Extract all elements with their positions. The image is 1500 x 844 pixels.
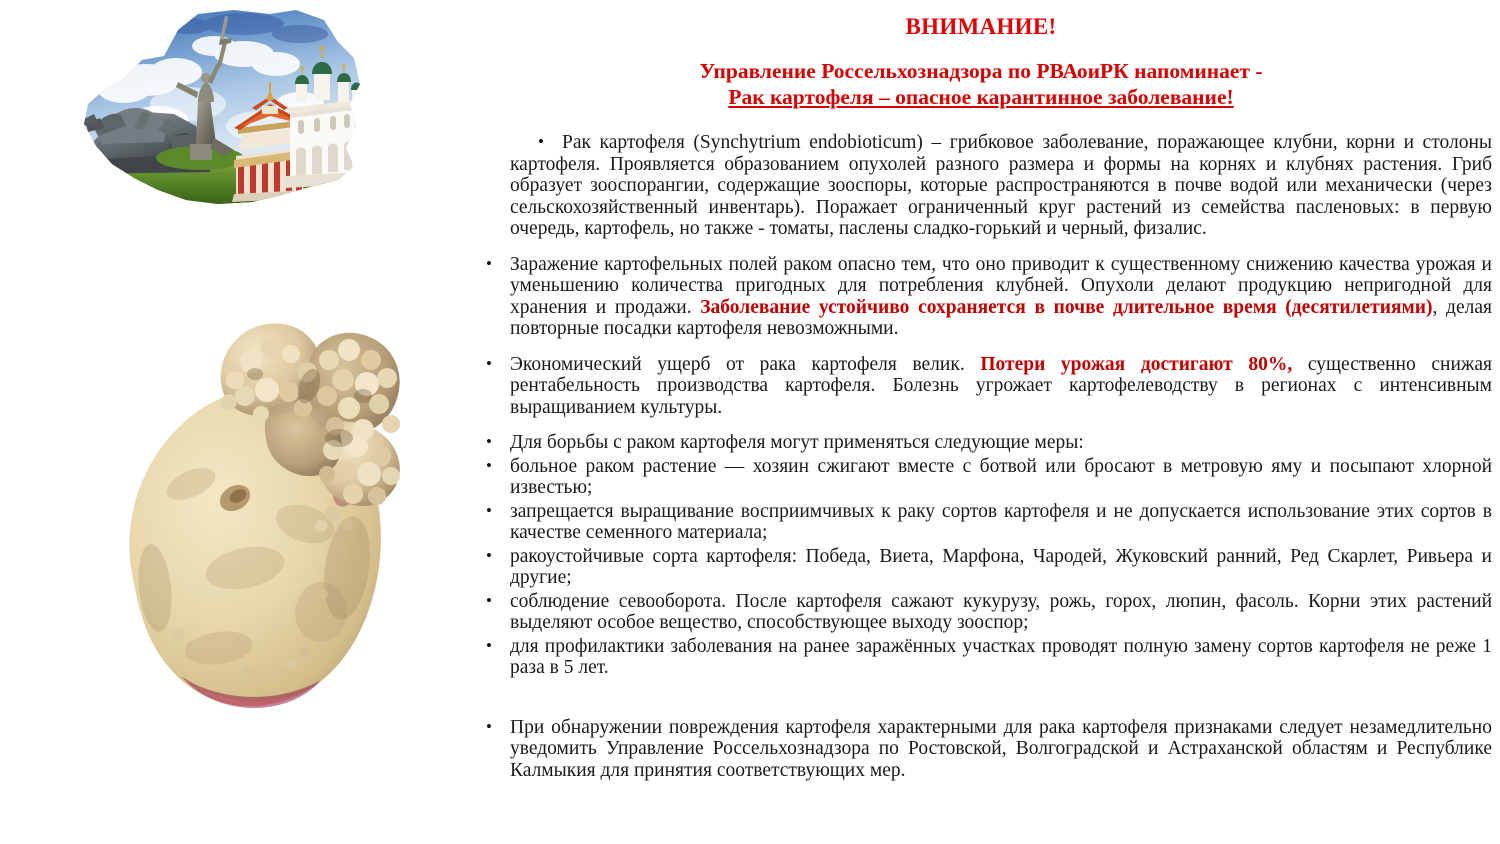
subheading-line-1: Управление Россельхознадзора по РВАоиРК … — [470, 58, 1492, 84]
bullet-field-infection: Заражение картофельных полей раком опасн… — [470, 254, 1492, 340]
poster-page: ВНИМАНИЕ! Управление Россельхознадзора п… — [0, 0, 1500, 844]
measure-item: соблюдение севооборота. После картофеля … — [470, 591, 1492, 634]
bullet-economic-damage-text-a: Экономический ущерб от рака картофеля ве… — [510, 354, 980, 375]
bullet-description-text: Рак картофеля (Synchytrium endobioticum)… — [510, 132, 1492, 239]
measure-item: ракоустойчивые сорта картофеля: Победа, … — [470, 546, 1492, 589]
measure-item-text: больное раком растение — хозяин сжигают … — [510, 456, 1492, 499]
spacer — [470, 679, 1492, 695]
bullet-economic-damage: Экономический ущерб от рака картофеля ве… — [470, 354, 1492, 419]
bullet-notification: При обнаружении повреждения картофеля ха… — [470, 717, 1492, 782]
poster-closing-list: При обнаружении повреждения картофеля ха… — [470, 717, 1492, 782]
bullet-measures-intro: Для борьбы с раком картофеля могут приме… — [470, 432, 1492, 454]
control-measures-list: больное раком растение — хозяин сжигают … — [470, 456, 1492, 679]
bullet-notification-text: При обнаружении повреждения картофеля ха… — [510, 717, 1492, 781]
bullet-field-infection-highlight: Заболевание устойчиво сохраняется в почв… — [700, 297, 1432, 318]
bullet-economic-damage-highlight: Потери урожая достигают 80%, — [980, 354, 1292, 375]
region-landmarks-collage — [38, 8, 370, 208]
measure-item-text: запрещается выращивание восприимчивых к … — [510, 501, 1492, 544]
measure-item-text: соблюдение севооборота. После картофеля … — [510, 591, 1492, 634]
measure-item-text: для профилактики заболевания на ранее за… — [510, 636, 1492, 679]
bullet-description: Рак картофеля (Synchytrium endobioticum)… — [470, 132, 1492, 240]
measure-item: запрещается выращивание восприимчивых к … — [470, 501, 1492, 544]
left-image-column — [0, 0, 455, 844]
poster-content: ВНИМАНИЕ! Управление Россельхознадзора п… — [470, 0, 1492, 844]
measure-item: для профилактики заболевания на ранее за… — [470, 636, 1492, 679]
bullet-measures-intro-text: Для борьбы с раком картофеля могут приме… — [510, 432, 1084, 453]
attention-title: ВНИМАНИЕ! — [470, 14, 1492, 40]
subheading: Управление Россельхознадзора по РВАоиРК … — [470, 58, 1492, 110]
poster-bullet-list: Рак картофеля (Synchytrium endobioticum)… — [470, 132, 1492, 454]
subheading-line-2: Рак картофеля – опасное карантинное забо… — [470, 84, 1492, 110]
poster-heading: ВНИМАНИЕ! Управление Россельхознадзора п… — [470, 14, 1492, 110]
measure-item-text: ракоустойчивые сорта картофеля: Победа, … — [510, 546, 1492, 589]
diseased-potato-photo — [95, 268, 425, 736]
measure-item: больное раком растение — хозяин сжигают … — [470, 456, 1492, 499]
